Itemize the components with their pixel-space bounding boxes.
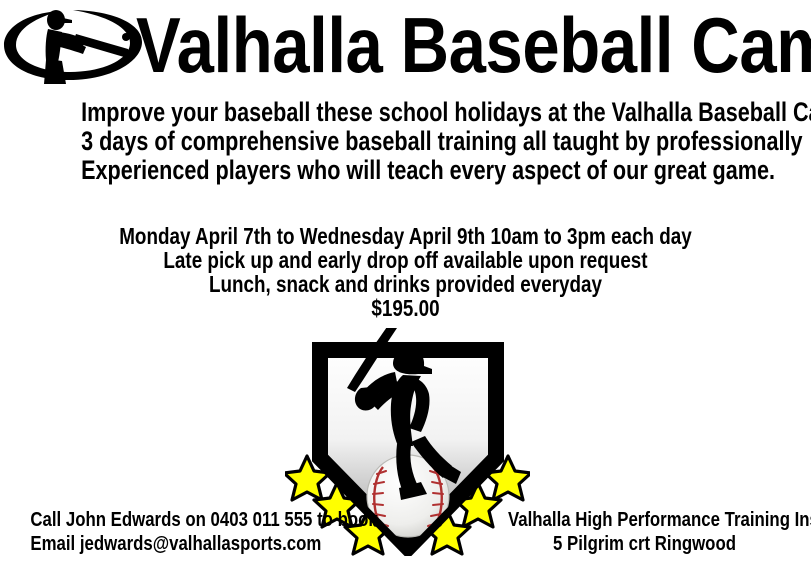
venue-name-line: Valhalla High Performance Training Insti… bbox=[508, 508, 781, 532]
contact-email-line: Email jedwards@valhallasports.com bbox=[30, 532, 307, 556]
venue-block-right: Valhalla High Performance Training Insti… bbox=[482, 508, 807, 556]
intro-line: Improve your baseball these school holid… bbox=[81, 98, 730, 127]
details-dates-line: Monday April 7th to Wednesday April 9th … bbox=[73, 224, 738, 248]
details-food-line: Lunch, snack and drinks provided everyda… bbox=[73, 272, 738, 296]
details-pickup-line: Late pick up and early drop off availabl… bbox=[73, 248, 738, 272]
intro-line: Experienced players who will teach every… bbox=[81, 156, 730, 185]
poster-header: Valhalla Baseball Camp bbox=[0, 0, 811, 90]
intro-line: 3 days of comprehensive baseball trainin… bbox=[81, 127, 730, 156]
intro-text-block: Improve your baseball these school holid… bbox=[0, 98, 811, 185]
contact-block-left: Call John Edwards on 0403 011 555 to boo… bbox=[4, 508, 334, 556]
details-price-line: $195.00 bbox=[73, 296, 738, 320]
page-title: Valhalla Baseball Camp bbox=[136, 0, 714, 90]
contact-phone-line: Call John Edwards on 0403 011 555 to boo… bbox=[30, 508, 307, 532]
details-text-block: Monday April 7th to Wednesday April 9th … bbox=[0, 224, 811, 320]
flyer-poster: Valhalla Baseball Camp Improve your base… bbox=[0, 0, 811, 564]
batter-swoosh-logo-icon bbox=[2, 4, 144, 86]
venue-address-line: 5 Pilgrim crt Ringwood bbox=[508, 532, 781, 556]
